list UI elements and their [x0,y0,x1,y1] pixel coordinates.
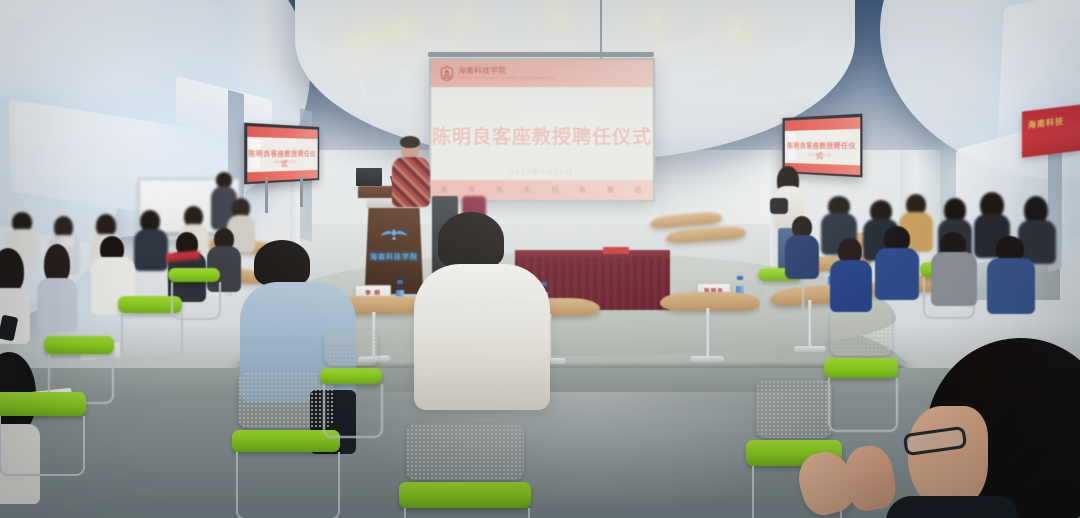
wall-banner: 海南科技 [1022,104,1080,157]
wall-banner-text: 海南科技 [1028,117,1064,131]
photo-scene: 海南科技学院 HAINAN INSTITUTE OF SCIENCE AND T… [0,0,1080,518]
desk-stage-right-leg [706,308,710,360]
audience-left-8 [44,244,77,332]
slide-org-name: 海南科技学院 [458,67,555,76]
audience-center-white-torso [414,264,550,410]
ceiling-downlight-2 [398,22,409,125]
audience-left-4 [140,210,168,271]
projection-screen: 海南科技学院 HAINAN INSTITUTE OF SCIENCE AND T… [429,58,655,202]
slide-motto-char-5: 创 [551,185,560,195]
standing-woman-right [772,168,795,186]
slide-motto-char-6: 新 [579,185,588,195]
slide-org-name-pinyin: HAINAN INSTITUTE OF SCIENCE AND TECHNOLO… [458,76,555,80]
slide-title: 陈明良客座教授聘任仪式 [431,122,653,149]
presentation-slide: 海南科技学院 HAINAN INSTITUTE OF SCIENCE AND T… [431,60,653,200]
eagle-crest-icon [379,226,409,242]
speaker-plaid-shirt [392,157,430,207]
slide-date: 2023年9月20日 [431,167,653,177]
foreground-person-face [908,406,988,510]
chair-left-empty-4 [168,268,221,320]
audience-right-11 [792,216,819,279]
slide-motto-char-8: 远 [635,185,644,195]
ceiling-downlight-1 [358,34,369,137]
wall-tv-left-bracket [265,177,268,213]
slide-motto-char-1: 求 [440,185,449,195]
head-table-top [515,250,670,258]
slide-motto-char-4: 实 [524,185,533,195]
audience-right-10 [838,238,872,312]
chair-right-empty-2 [830,308,898,432]
head-table-red-folder [603,247,629,254]
audience-center-white-hair [438,212,504,268]
desk-stage-right-foot [690,356,724,362]
audience-center-blue-shirt [232,240,310,286]
podium-monitor [356,168,382,186]
wall-tv-left: 陈明良客座教授聘任仪式 2023年9月20日 [244,123,319,185]
audience-center-blue-hair [254,240,310,286]
slide-header-band: 海南科技学院 HAINAN INSTITUTE OF SCIENCE AND T… [431,60,653,87]
standing-woman-held-item [770,198,788,214]
audience-right-9 [996,236,1035,314]
audience-right-7 [884,226,919,300]
desk-right-1-leg [808,300,812,350]
audience-center-white-shirt [412,212,504,268]
slide-motto-char-3: 务 [496,185,505,195]
desk-stage-right [660,292,760,311]
speaker-hair [400,136,420,148]
slide-motto-char-2: 真 [468,185,477,195]
ceiling-downlight-6 [730,26,741,129]
chair-mid-empty-1 [324,330,383,438]
wall-tv-left-bracket-2 [300,177,303,207]
university-logo-icon [440,66,454,81]
screen-roller [428,52,654,57]
slide-motto-char-7: 致 [607,185,616,195]
chair-left-empty-3 [0,392,86,476]
desk-right-1-foot [794,346,826,352]
foreground-person-shoulders [886,496,1018,518]
audience-right-8 [940,232,977,306]
speaker-at-podium [392,138,430,207]
chair-center-right [406,424,531,518]
